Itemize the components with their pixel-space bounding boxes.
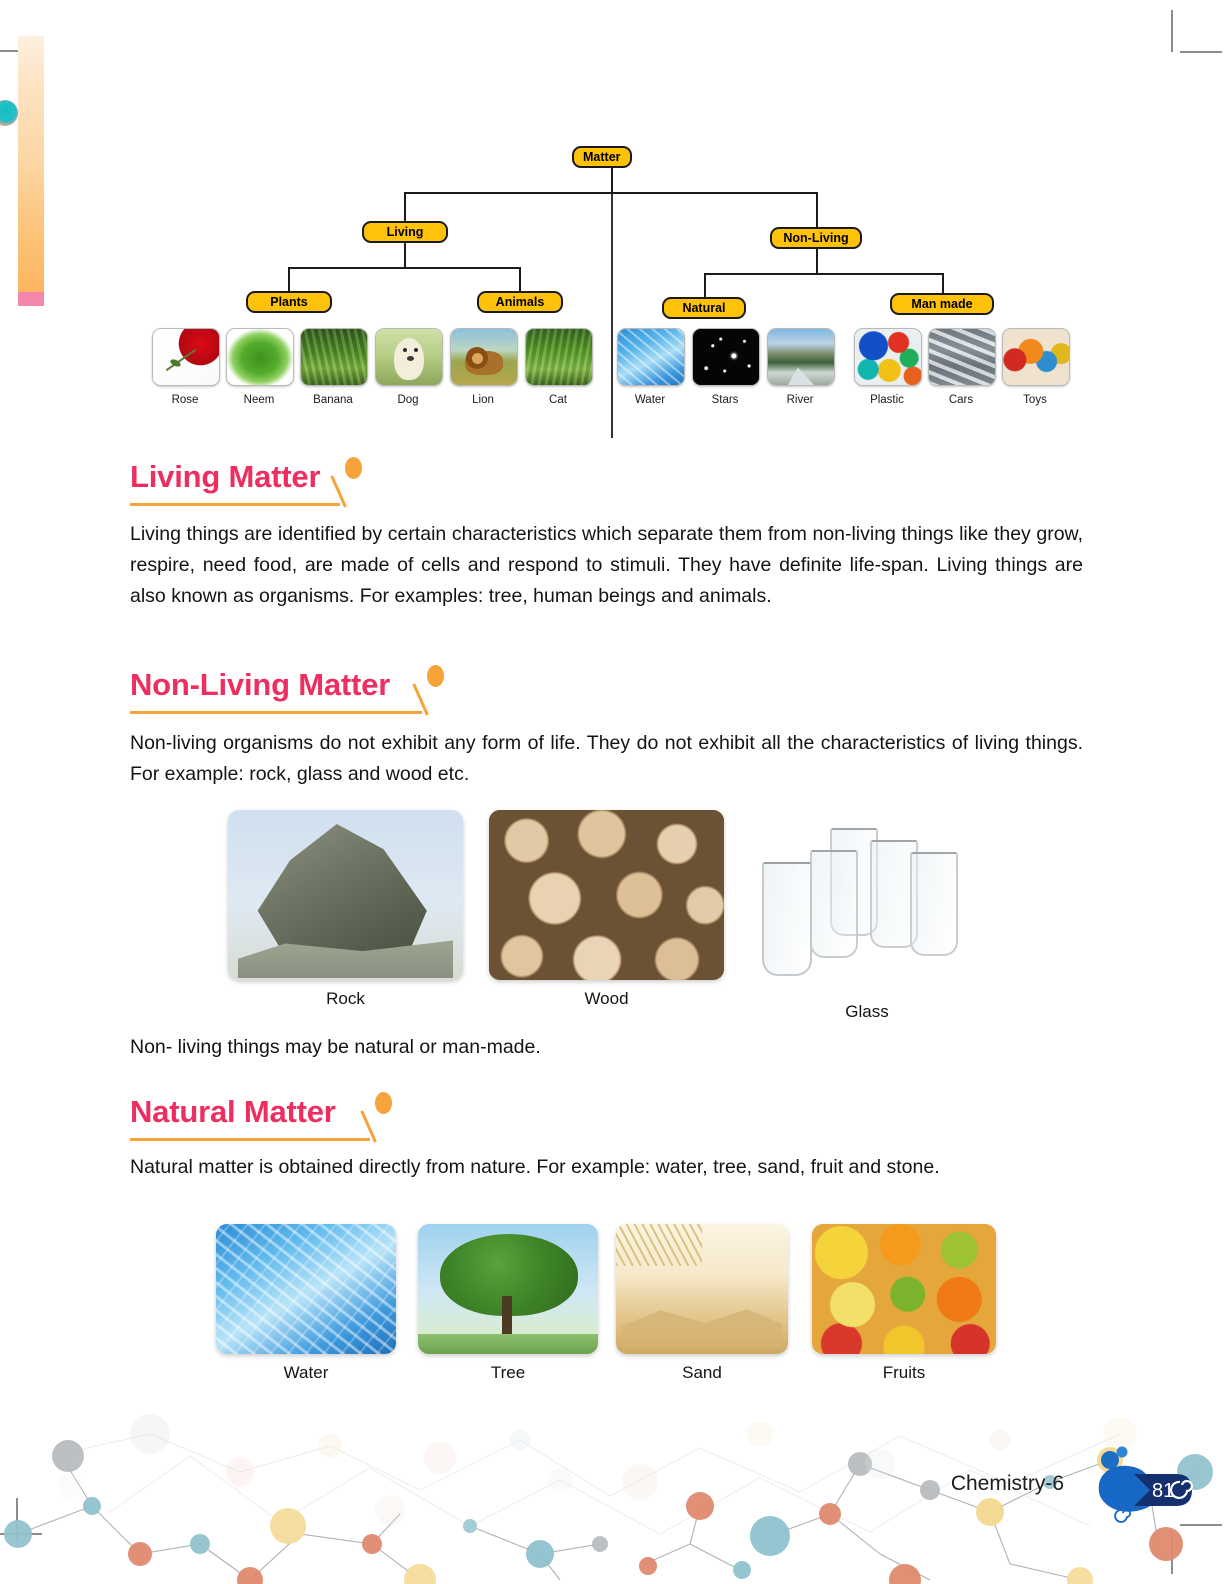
heading-non-living-matter: Non-Living Matter <box>130 669 390 700</box>
node-animals: Animals <box>477 291 563 313</box>
teal-dot-icon <box>0 100 18 126</box>
lion-thumbnail <box>450 328 518 386</box>
water-thumbnail <box>617 328 685 386</box>
figure-glass: Glass <box>752 820 982 1022</box>
badge-bubble-small <box>1117 1447 1128 1458</box>
badge-bubble-large <box>1101 1451 1119 1469</box>
connector-to-natural <box>704 273 706 299</box>
thumb-caption: Toys <box>1002 394 1068 406</box>
thumb-cat: Cat <box>525 328 591 406</box>
thumb-banana: Banana <box>300 328 366 406</box>
river-thumbnail <box>767 328 835 386</box>
connector-to-living <box>404 192 406 221</box>
footer-subject-title: Chemistry-6 <box>951 1472 1064 1496</box>
figure-caption: Tree <box>418 1363 598 1383</box>
cat-thumbnail <box>525 328 593 386</box>
tree-photo <box>418 1224 598 1354</box>
connector-level1-bar <box>404 192 818 194</box>
figure-caption: Wood <box>489 989 724 1009</box>
left-edge-decoration <box>0 0 60 330</box>
figure-caption: Glass <box>752 1002 982 1022</box>
connector-to-manmade <box>942 273 944 295</box>
thumb-caption: Cars <box>928 394 994 406</box>
connector-nonliving-bar <box>704 273 944 275</box>
figure-caption: Rock <box>228 989 463 1009</box>
thumb-caption: Plastic <box>854 394 920 406</box>
thumb-caption: Stars <box>692 394 758 406</box>
node-living: Living <box>362 221 448 243</box>
thumb-water: Water <box>617 328 683 406</box>
banana-thumbnail <box>300 328 368 386</box>
heading-natural-matter: Natural Matter <box>130 1096 336 1127</box>
thumb-caption: Banana <box>300 394 366 406</box>
heading-text: Non-Living Matter <box>130 669 390 700</box>
wood-logs-photo <box>489 810 724 980</box>
node-non-living: Non-Living <box>770 227 862 249</box>
heading-dot-icon <box>427 665 444 687</box>
thumb-caption: Cat <box>525 394 591 406</box>
heading-underline <box>130 1138 370 1141</box>
thumb-cars: Cars <box>928 328 994 406</box>
neem-thumbnail <box>226 328 294 386</box>
connector-root-down <box>611 168 613 194</box>
pink-strip <box>18 292 44 306</box>
heading-dot-icon <box>345 457 362 479</box>
thumb-lion: Lion <box>450 328 516 406</box>
example-thumbnail-row: Rose Neem Banana Dog <box>130 328 1090 428</box>
rock-photo <box>228 810 463 980</box>
heading-text: Natural Matter <box>130 1096 336 1127</box>
water-photo <box>216 1224 396 1354</box>
matter-classification-diagram: Matter Living Non-Living Plants Animals … <box>130 138 1090 438</box>
thumb-caption: Lion <box>450 394 516 406</box>
thumb-caption: River <box>767 394 833 406</box>
figure-wood: Wood <box>489 810 724 1009</box>
thumb-caption: Rose <box>152 394 218 406</box>
connector-to-nonliving <box>816 192 818 227</box>
crop-mark-top-right-horizontal <box>1180 51 1222 53</box>
connector-living-bar <box>288 267 521 269</box>
fruits-photo <box>812 1224 996 1354</box>
page-number-badge: 81 <box>1088 1444 1206 1526</box>
figure-caption: Water <box>216 1363 396 1383</box>
heading-underline <box>130 711 422 714</box>
node-matter: Matter <box>572 146 632 168</box>
node-plants: Plants <box>246 291 332 313</box>
node-man-made: Man made <box>890 293 994 315</box>
paragraph-non-living-matter: Non-living organisms do not exhibit any … <box>130 728 1083 790</box>
figure-caption: Sand <box>616 1363 788 1383</box>
figure-tree: Tree <box>418 1224 598 1383</box>
figure-fruits: Fruits <box>812 1224 996 1383</box>
crop-mark-top-right-vertical <box>1171 10 1173 52</box>
note-non-living: Non- living things may be natural or man… <box>130 1032 1083 1063</box>
figure-rock: Rock <box>228 810 463 1009</box>
thumb-stars: Stars <box>692 328 758 406</box>
orange-gradient-strip <box>18 36 44 306</box>
figure-sand: Sand <box>616 1224 788 1383</box>
thumb-caption: Dog <box>375 394 441 406</box>
thumb-caption: Water <box>617 394 683 406</box>
paragraph-living-matter: Living things are identified by certain … <box>130 519 1083 612</box>
thumb-river: River <box>767 328 833 406</box>
thumb-neem: Neem <box>226 328 292 406</box>
thumb-dog: Dog <box>375 328 441 406</box>
figure-row-natural: Water Tree Sand Fruits <box>0 1224 1224 1414</box>
dog-thumbnail <box>375 328 443 386</box>
rose-thumbnail <box>152 328 220 386</box>
paragraph-natural-matter: Natural matter is obtained directly from… <box>130 1152 1083 1183</box>
thumb-plastic: Plastic <box>854 328 920 406</box>
figure-row-non-living: Rock Wood Glass <box>0 810 1224 1035</box>
connector-to-animals <box>519 267 521 293</box>
toys-thumbnail <box>1002 328 1070 386</box>
figure-water: Water <box>216 1224 396 1383</box>
connector-living-down <box>404 243 406 269</box>
plastic-thumbnail <box>854 328 922 386</box>
figure-caption: Fruits <box>812 1363 996 1383</box>
sand-dune-photo <box>616 1224 788 1354</box>
thumb-rose: Rose <box>152 328 218 406</box>
thumb-caption: Neem <box>226 394 292 406</box>
heading-underline <box>130 503 340 506</box>
thumb-toys: Toys <box>1002 328 1068 406</box>
connector-nonliving-down <box>816 249 818 275</box>
heading-living-matter: Living Matter <box>130 461 320 492</box>
heading-text: Living Matter <box>130 461 320 492</box>
heading-dot-icon <box>375 1092 392 1114</box>
node-natural: Natural <box>662 297 746 319</box>
glass-tumblers-photo <box>752 820 982 980</box>
cars-thumbnail <box>928 328 996 386</box>
connector-to-plants <box>288 267 290 293</box>
stars-thumbnail <box>692 328 760 386</box>
